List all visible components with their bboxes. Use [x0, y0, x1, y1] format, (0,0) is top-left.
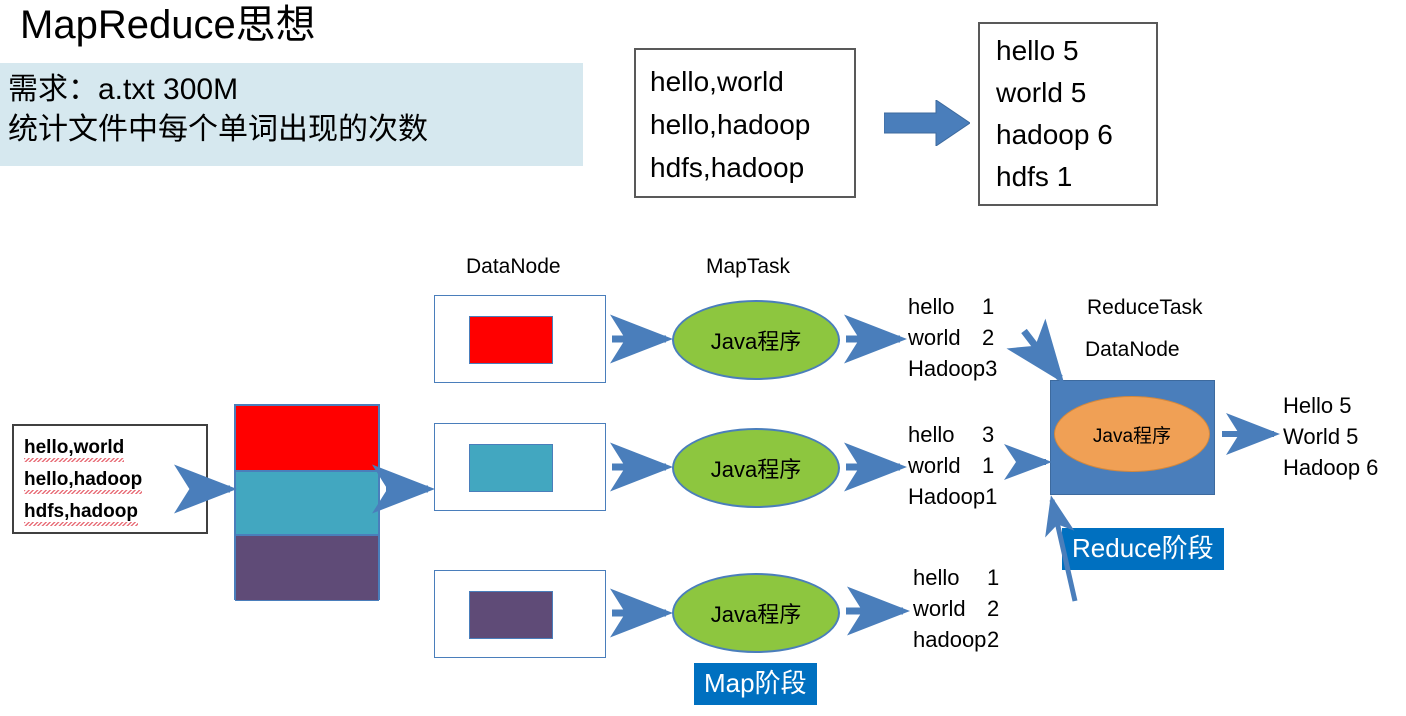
map-output-count: 3: [982, 422, 994, 447]
maptask-node: Java程序: [672, 573, 840, 653]
map-output-key: world: [908, 450, 982, 481]
slide-canvas: MapReduce思想 需求：a.txt 300M 统计文件中每个单词出现的次数…: [0, 0, 1406, 716]
sample-output-line: world 5: [996, 72, 1156, 114]
map-output-key: Hadoop: [908, 481, 985, 512]
source-file-line: hello,world: [24, 432, 124, 464]
label-maptask: MapTask: [706, 255, 790, 279]
reducetask-label: Java程序: [1093, 421, 1171, 448]
split-slice-block-2: [235, 471, 379, 535]
page-title: MapReduce思想: [20, 2, 316, 48]
datanode-box: [434, 570, 606, 658]
map-output-row: world1: [908, 450, 997, 481]
badge-map-stage: Map阶段: [694, 663, 817, 705]
requirement-banner: 需求：a.txt 300M 统计文件中每个单词出现的次数: [0, 63, 583, 166]
map-output-list: hello3 world1 Hadoop1: [908, 419, 997, 512]
maptask-label: Java程序: [711, 597, 801, 629]
maptask-label: Java程序: [711, 324, 801, 356]
map-output-count: 1: [985, 484, 997, 509]
map-output-count: 1: [982, 453, 994, 478]
split-slice-block-1: [235, 405, 379, 471]
map-output-key: hello: [908, 291, 982, 322]
map-output-row: Hadoop3: [908, 353, 997, 384]
sample-input-line: hello,hadoop: [650, 103, 854, 146]
map-output-row: world2: [913, 593, 999, 624]
map-output-key: hadoop: [913, 624, 987, 655]
badge-reduce-stage: Reduce阶段: [1062, 528, 1224, 570]
label-datanode-top: DataNode: [466, 255, 561, 279]
source-file-box: hello,world hello,hadoop hdfs,hadoop: [12, 424, 208, 534]
label-reducetask: ReduceTask: [1087, 296, 1203, 320]
map-output-key: Hadoop: [908, 353, 985, 384]
map-output-row: hello3: [908, 419, 997, 450]
maptask-label: Java程序: [711, 452, 801, 484]
sample-output-line: hello 5: [996, 30, 1156, 72]
map-output-list: hello1 world2 Hadoop3: [908, 291, 997, 384]
map-output-key: world: [908, 322, 982, 353]
final-output-row: Hadoop 6: [1283, 452, 1378, 483]
datanode-chunk: [469, 316, 553, 364]
sample-input-box: hello,world hello,hadoop hdfs,hadoop: [634, 48, 856, 198]
map-output-count: 2: [987, 596, 999, 621]
datanode-box: [434, 423, 606, 511]
source-file-line: hello,hadoop: [24, 464, 142, 496]
final-output-list: Hello 5 World 5 Hadoop 6: [1283, 390, 1378, 483]
map-output-count: 1: [987, 565, 999, 590]
map-output-count: 3: [985, 356, 997, 381]
sample-input-line: hdfs,hadoop: [650, 146, 854, 189]
sample-input-line: hello,world: [650, 60, 854, 103]
map-output-count: 2: [982, 325, 994, 350]
maptask-node: Java程序: [672, 300, 840, 380]
map-output-key: hello: [913, 562, 987, 593]
source-file-line: hdfs,hadoop: [24, 496, 138, 528]
requirement-line-2: 统计文件中每个单词出现的次数: [8, 113, 428, 147]
reducetask-node: Java程序: [1054, 396, 1210, 472]
map-output-count: 2: [987, 627, 999, 652]
requirement-line-1: 需求：a.txt 300M: [8, 73, 238, 107]
map-output-row: hello1: [913, 562, 999, 593]
map-output-key: world: [913, 593, 987, 624]
map-output-row: hello1: [908, 291, 997, 322]
map-output-count: 1: [982, 294, 994, 319]
map-output-row: hadoop2: [913, 624, 999, 655]
maptask-node: Java程序: [672, 428, 840, 508]
map-output-row: world2: [908, 322, 997, 353]
final-output-row: World 5: [1283, 421, 1378, 452]
datanode-box: [434, 295, 606, 383]
final-output-row: Hello 5: [1283, 390, 1378, 421]
block-arrow-icon: [884, 100, 970, 146]
sample-output-line: hadoop 6: [996, 114, 1156, 156]
sample-output-box: hello 5 world 5 hadoop 6 hdfs 1: [978, 22, 1158, 206]
map-output-key: hello: [908, 419, 982, 450]
datanode-chunk: [469, 444, 553, 492]
split-block: [234, 404, 380, 600]
split-slice-block-3: [235, 535, 379, 601]
datanode-chunk: [469, 591, 553, 639]
sample-output-line: hdfs 1: [996, 156, 1156, 198]
label-datanode-reduce: DataNode: [1085, 338, 1180, 362]
arrow-shuffle-top: [1024, 331, 1060, 378]
map-output-row: Hadoop1: [908, 481, 997, 512]
map-output-list: hello1 world2 hadoop2: [913, 562, 999, 655]
